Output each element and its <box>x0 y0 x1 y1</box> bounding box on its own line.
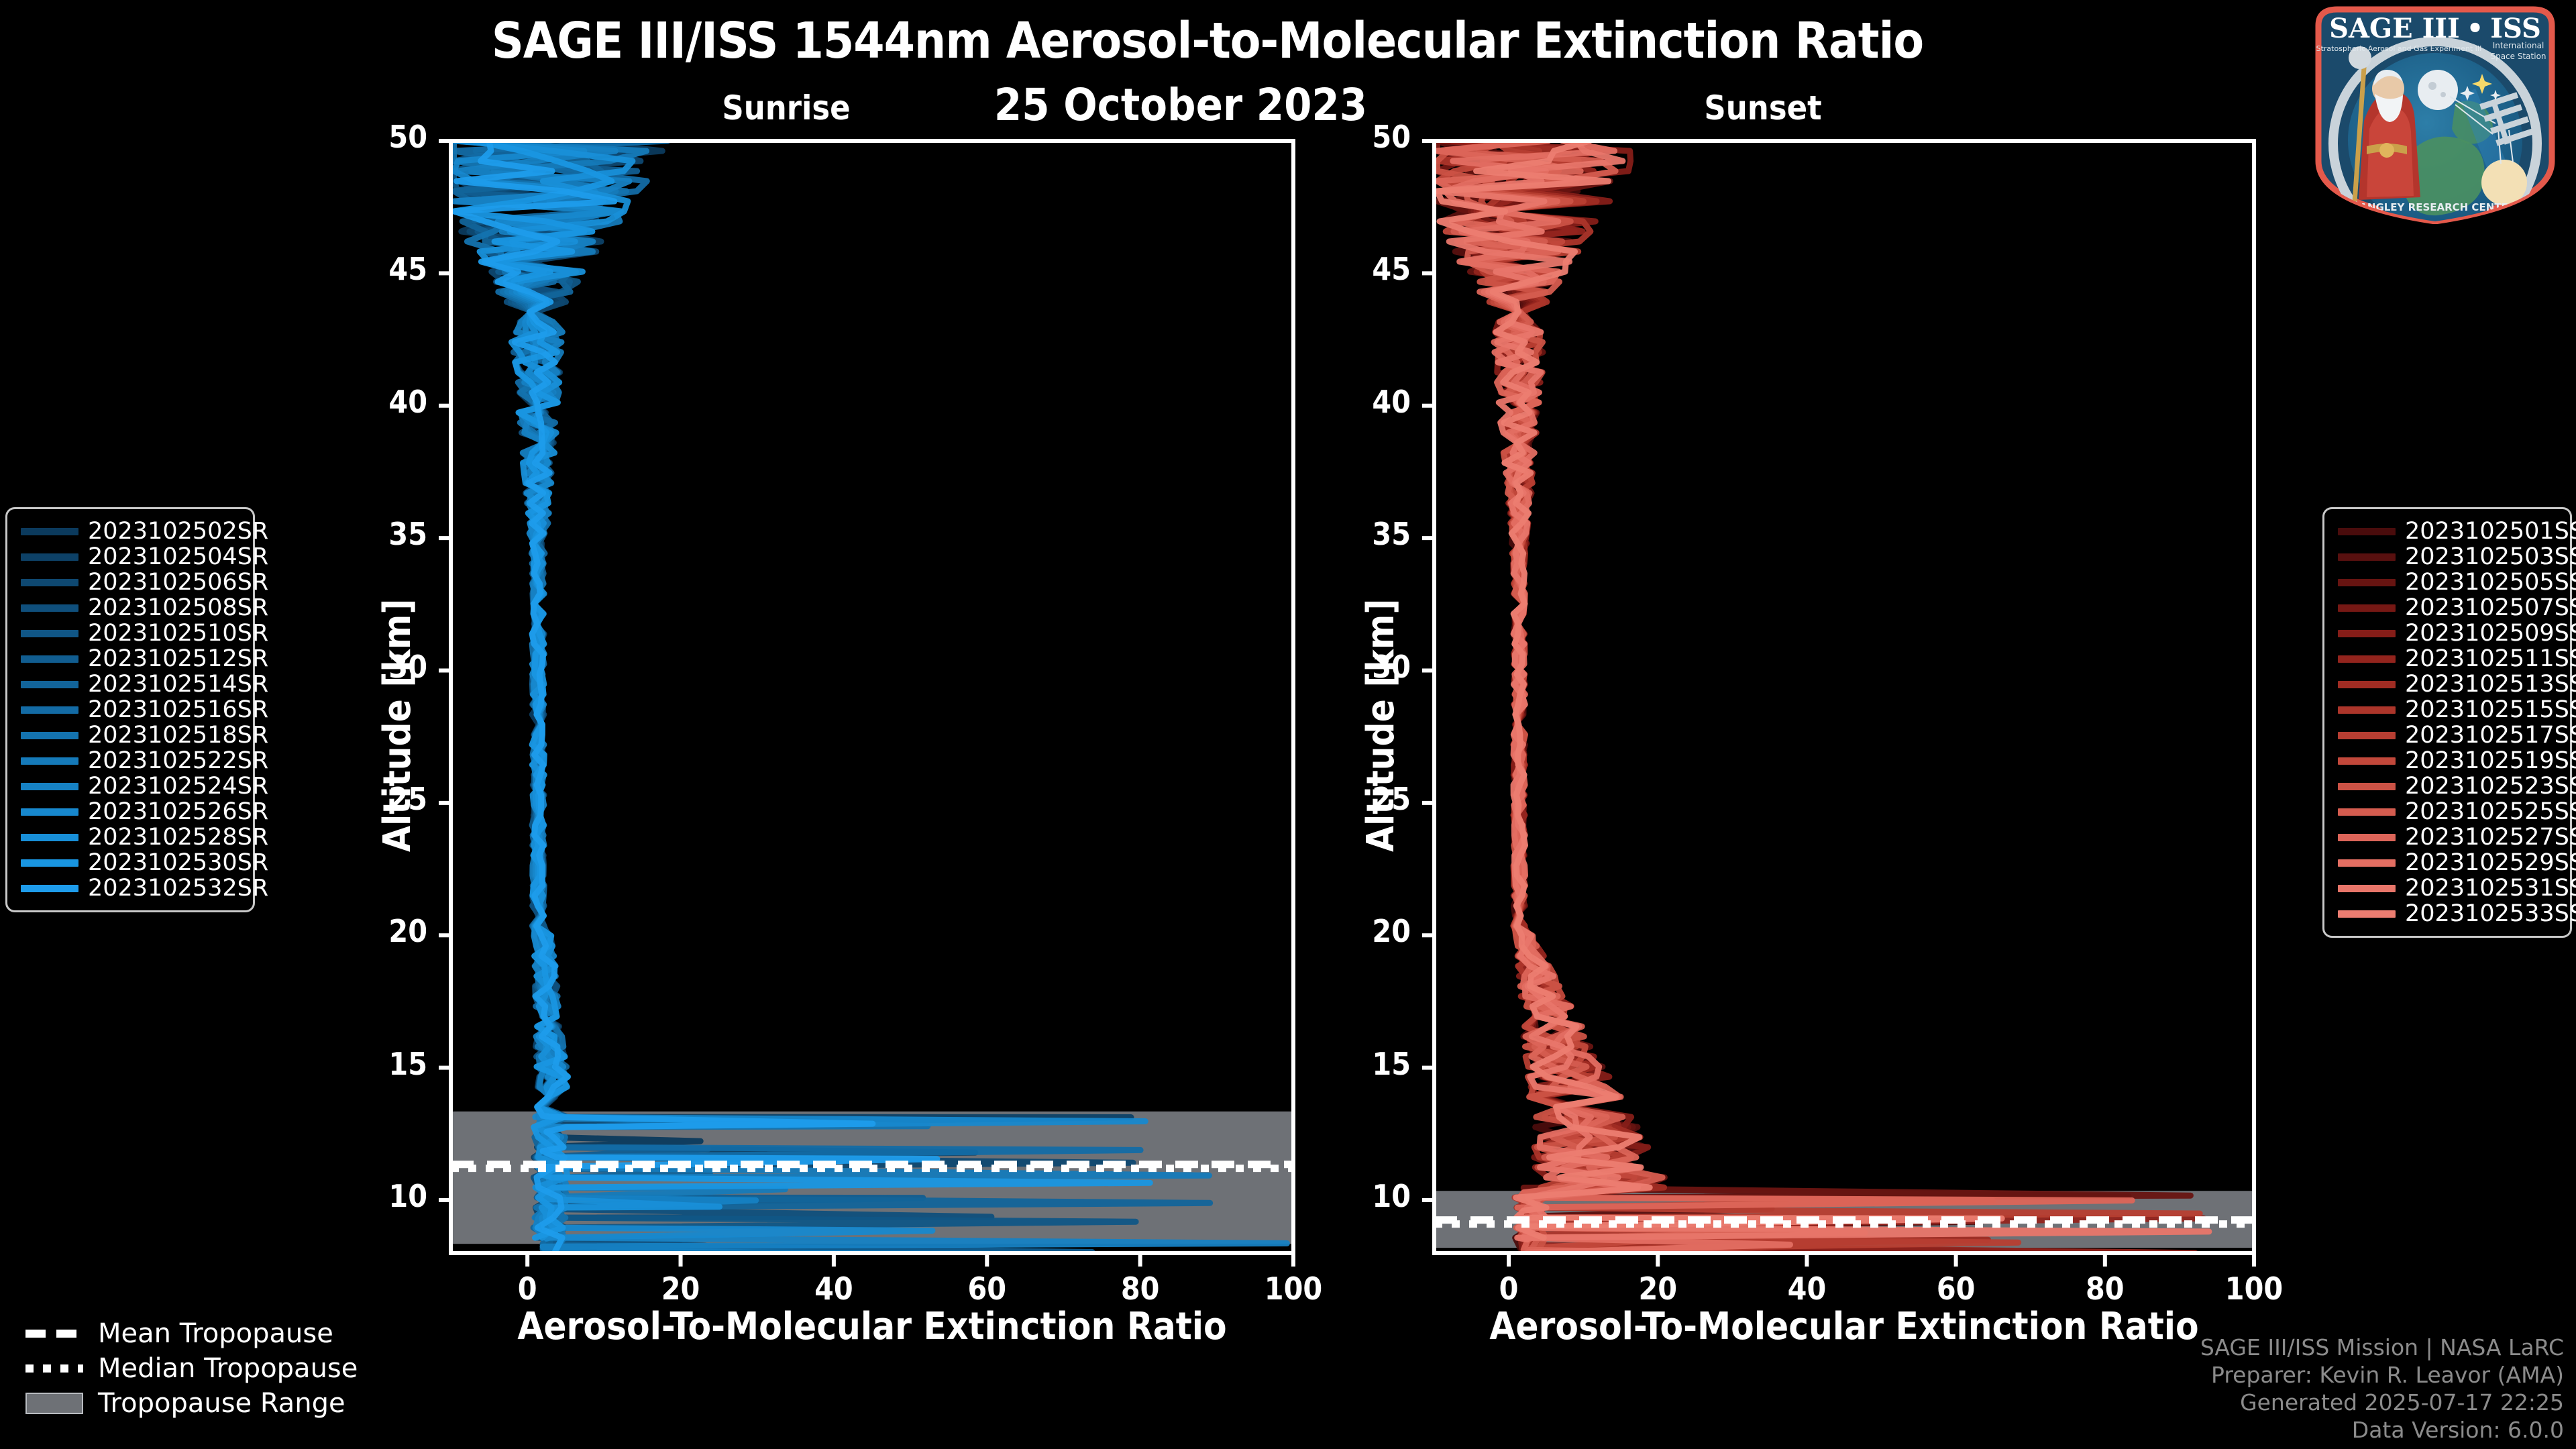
legend-item[interactable]: 2023102527SS <box>2324 824 2570 850</box>
y-tick-label: 20 <box>1317 913 1411 949</box>
tropopause-legend-swatch-dotted <box>25 1364 83 1373</box>
legend-item[interactable]: 2023102533SS <box>2324 901 2570 926</box>
legend-item-label: 2023102517SS <box>2405 722 2576 749</box>
legend-color-swatch <box>2338 655 2396 663</box>
tropopause-legend-swatch-band <box>25 1393 83 1414</box>
legend-item-label: 2023102526SR <box>88 798 268 825</box>
legend-color-swatch <box>2338 757 2396 765</box>
legend-color-swatch <box>2338 706 2396 714</box>
legend-color-swatch <box>21 655 78 663</box>
legend-color-swatch <box>2338 910 2396 918</box>
x-tick-label: 20 <box>1611 1271 1705 1307</box>
legend-item[interactable]: 2023102523SS <box>2324 773 2570 799</box>
x-tick-label: 80 <box>2058 1271 2152 1307</box>
legend-color-swatch <box>2338 528 2396 535</box>
x-tick-label: 40 <box>787 1271 881 1307</box>
legend-item-label: 2023102527SS <box>2405 824 2576 851</box>
legend-color-swatch <box>2338 604 2396 612</box>
legend-item[interactable]: 2023102501SS <box>2324 519 2570 544</box>
legend-color-swatch <box>21 834 78 841</box>
credit-line: SAGE III/ISS Mission | NASA LaRC <box>2200 1334 2564 1361</box>
legend-color-swatch <box>2338 783 2396 790</box>
x-tick-label: 0 <box>480 1271 574 1307</box>
credit-line: Generated 2025-07-17 22:25 <box>2200 1389 2564 1416</box>
legend-color-swatch <box>2338 553 2396 561</box>
legend-item-label: 2023102523SS <box>2405 773 2576 800</box>
legend-item-label: 2023102528SR <box>88 824 268 851</box>
legend-color-swatch <box>2338 681 2396 688</box>
legend-item-label: 2023102515SS <box>2405 696 2576 723</box>
legend-item-label: 2023102516SR <box>88 696 268 723</box>
legend-tropopause: Mean TropopauseMedian TropopauseTropopau… <box>12 1316 374 1421</box>
legend-item[interactable]: 2023102504SR <box>7 544 253 570</box>
tropopause-legend-swatch-dashed <box>25 1330 83 1338</box>
legend-color-swatch <box>21 757 78 765</box>
legend-item[interactable]: 2023102508SR <box>7 595 253 621</box>
legend-item[interactable]: 2023102530SR <box>7 850 253 875</box>
x-tick-label: 0 <box>1462 1271 1556 1307</box>
y-axis-title-sunrise: Altitude [km] <box>376 599 419 852</box>
legend-color-swatch <box>21 859 78 867</box>
tropopause-legend-label: Median Tropopause <box>98 1353 358 1384</box>
y-tick-label: 10 <box>1317 1178 1411 1214</box>
credit-line: Data Version: 6.0.0 <box>2200 1416 2564 1444</box>
legend-item[interactable]: 2023102519SS <box>2324 748 2570 773</box>
legend-item-label: 2023102529SS <box>2405 849 2576 876</box>
legend-item-label: 2023102518SR <box>88 722 268 749</box>
x-tick-label: 60 <box>940 1271 1034 1307</box>
legend-item-label: 2023102511SS <box>2405 645 2576 672</box>
patch-subtitle-right-2: Space Station <box>2490 52 2546 61</box>
legend-item[interactable]: 2023102502SR <box>7 519 253 544</box>
panel-sunrise <box>439 141 1293 1293</box>
x-tick-label: 20 <box>634 1271 728 1307</box>
credit-line: Preparer: Kevin R. Leavor (AMA) <box>2200 1361 2564 1389</box>
legend-sunrise[interactable]: 2023102502SR2023102504SR2023102506SR2023… <box>5 507 255 912</box>
x-tick-label: 100 <box>1246 1271 1340 1307</box>
plot-background <box>451 141 1293 1253</box>
y-tick-label: 20 <box>333 913 427 949</box>
legend-item[interactable]: 2023102510SR <box>7 621 253 646</box>
panel-sunset <box>1422 141 2266 1293</box>
sun-icon <box>2481 160 2527 205</box>
legend-color-swatch <box>21 706 78 714</box>
legend-item-label: 2023102512SR <box>88 645 268 672</box>
y-tick-label: 35 <box>1317 516 1411 552</box>
legend-item-label: 2023102522SR <box>88 747 268 774</box>
legend-item-label: 2023102504SR <box>88 543 268 570</box>
legend-item-label: 2023102508SR <box>88 594 268 621</box>
y-tick-label: 50 <box>333 119 427 155</box>
credits-block: SAGE III/ISS Mission | NASA LaRCPreparer… <box>2200 1334 2564 1444</box>
legend-item[interactable]: 2023102515SS <box>2324 697 2570 722</box>
legend-item-label: 2023102524SR <box>88 773 268 800</box>
legend-item-label: 2023102513SS <box>2405 671 2576 698</box>
legend-item[interactable]: 2023102532SR <box>7 875 253 901</box>
legend-color-swatch <box>21 630 78 637</box>
legend-item[interactable]: 2023102525SS <box>2324 799 2570 824</box>
patch-ring-text: BALL • NASA LANGLEY RESEARCH CENTER • TA… <box>2300 201 2571 213</box>
patch-subtitle-left: Stratospheric Aerosol and Gas Experiment… <box>2316 44 2482 53</box>
legend-color-swatch <box>2338 859 2396 867</box>
legend-item[interactable]: 2023102512SR <box>7 646 253 672</box>
x-tick-label: 100 <box>2207 1271 2301 1307</box>
legend-item-label: 2023102503SS <box>2405 543 2576 570</box>
legend-item[interactable]: 2023102507SS <box>2324 595 2570 621</box>
moon-icon <box>2418 70 2458 110</box>
legend-item-label: 2023102509SS <box>2405 620 2576 647</box>
legend-item[interactable]: 2023102514SR <box>7 672 253 697</box>
legend-color-swatch <box>2338 834 2396 841</box>
y-tick-label: 50 <box>1317 119 1411 155</box>
patch-title: SAGE III•ISS <box>2329 13 2541 44</box>
legend-item-label: 2023102510SR <box>88 620 268 647</box>
x-tick-label: 80 <box>1093 1271 1187 1307</box>
y-tick-label: 45 <box>1317 251 1411 287</box>
legend-color-swatch <box>2338 732 2396 739</box>
x-axis-title-sunset: Aerosol-To-Molecular Extinction Ratio <box>1434 1305 2254 1348</box>
legend-item-label: 2023102533SS <box>2405 900 2576 927</box>
tropopause-legend-item: Median Tropopause <box>12 1351 374 1386</box>
x-axis-title-sunrise: Aerosol-To-Molecular Extinction Ratio <box>451 1305 1293 1348</box>
y-tick-label: 15 <box>1317 1046 1411 1082</box>
legend-color-swatch <box>21 553 78 561</box>
legend-item[interactable]: 2023102522SR <box>7 748 253 773</box>
legend-color-swatch <box>2338 808 2396 816</box>
y-axis-title-sunset: Altitude [km] <box>1359 599 1403 852</box>
legend-color-swatch <box>21 885 78 892</box>
tropopause-legend-label: Tropopause Range <box>98 1388 345 1419</box>
legend-item[interactable]: 2023102531SS <box>2324 875 2570 901</box>
y-tick-label: 15 <box>333 1046 427 1082</box>
legend-item-label: 2023102519SS <box>2405 747 2576 774</box>
legend-item-label: 2023102505SS <box>2405 569 2576 596</box>
legend-item[interactable]: 2023102529SS <box>2324 850 2570 875</box>
legend-item-label: 2023102532SR <box>88 875 268 902</box>
legend-color-swatch <box>2338 885 2396 892</box>
legend-item-label: 2023102501SS <box>2405 518 2576 545</box>
legend-color-swatch <box>21 783 78 790</box>
legend-item[interactable]: 2023102517SS <box>2324 722 2570 748</box>
legend-color-swatch <box>2338 579 2396 586</box>
legend-item-label: 2023102530SR <box>88 849 268 876</box>
tropopause-legend-item: Mean Tropopause <box>12 1316 374 1351</box>
legend-color-swatch <box>21 528 78 535</box>
legend-item[interactable]: 2023102506SR <box>7 570 253 595</box>
legend-item[interactable]: 2023102511SS <box>2324 646 2570 672</box>
legend-item-label: 2023102502SR <box>88 518 268 545</box>
y-tick-label: 45 <box>333 251 427 287</box>
legend-item[interactable]: 2023102526SR <box>7 799 253 824</box>
x-tick-label: 60 <box>1909 1271 2003 1307</box>
legend-item[interactable]: 2023102505SS <box>2324 570 2570 595</box>
legend-item-label: 2023102514SR <box>88 671 268 698</box>
tropopause-legend-item: Tropopause Range <box>12 1386 374 1421</box>
legend-item[interactable]: 2023102518SR <box>7 722 253 748</box>
x-tick-label: 40 <box>1760 1271 1854 1307</box>
legend-item-label: 2023102506SR <box>88 569 268 596</box>
tropopause-legend-label: Mean Tropopause <box>98 1318 333 1349</box>
legend-item[interactable]: 2023102509SS <box>2324 621 2570 646</box>
patch-subtitle-right-1: International <box>2493 41 2544 50</box>
y-tick-label: 40 <box>1317 384 1411 420</box>
y-tick-label: 35 <box>333 516 427 552</box>
y-tick-label: 10 <box>333 1178 427 1214</box>
legend-color-swatch <box>2338 630 2396 637</box>
legend-item[interactable]: 2023102513SS <box>2324 672 2570 697</box>
legend-color-swatch <box>21 732 78 739</box>
legend-item[interactable]: 2023102528SR <box>7 824 253 850</box>
legend-color-swatch <box>21 579 78 586</box>
legend-item[interactable]: 2023102524SR <box>7 773 253 799</box>
sage-iii-iss-logo: BALL • NASA LANGLEY RESEARCH CENTER • TA… <box>2300 3 2571 224</box>
legend-color-swatch <box>21 808 78 816</box>
legend-item[interactable]: 2023102503SS <box>2324 544 2570 570</box>
legend-color-swatch <box>21 604 78 612</box>
legend-item[interactable]: 2023102516SR <box>7 697 253 722</box>
legend-item-label: 2023102531SS <box>2405 875 2576 902</box>
y-tick-label: 40 <box>333 384 427 420</box>
legend-sunset[interactable]: 2023102501SS2023102503SS2023102505SS2023… <box>2322 507 2572 938</box>
legend-item-label: 2023102507SS <box>2405 594 2576 621</box>
legend-color-swatch <box>21 681 78 688</box>
legend-item-label: 2023102525SS <box>2405 798 2576 825</box>
